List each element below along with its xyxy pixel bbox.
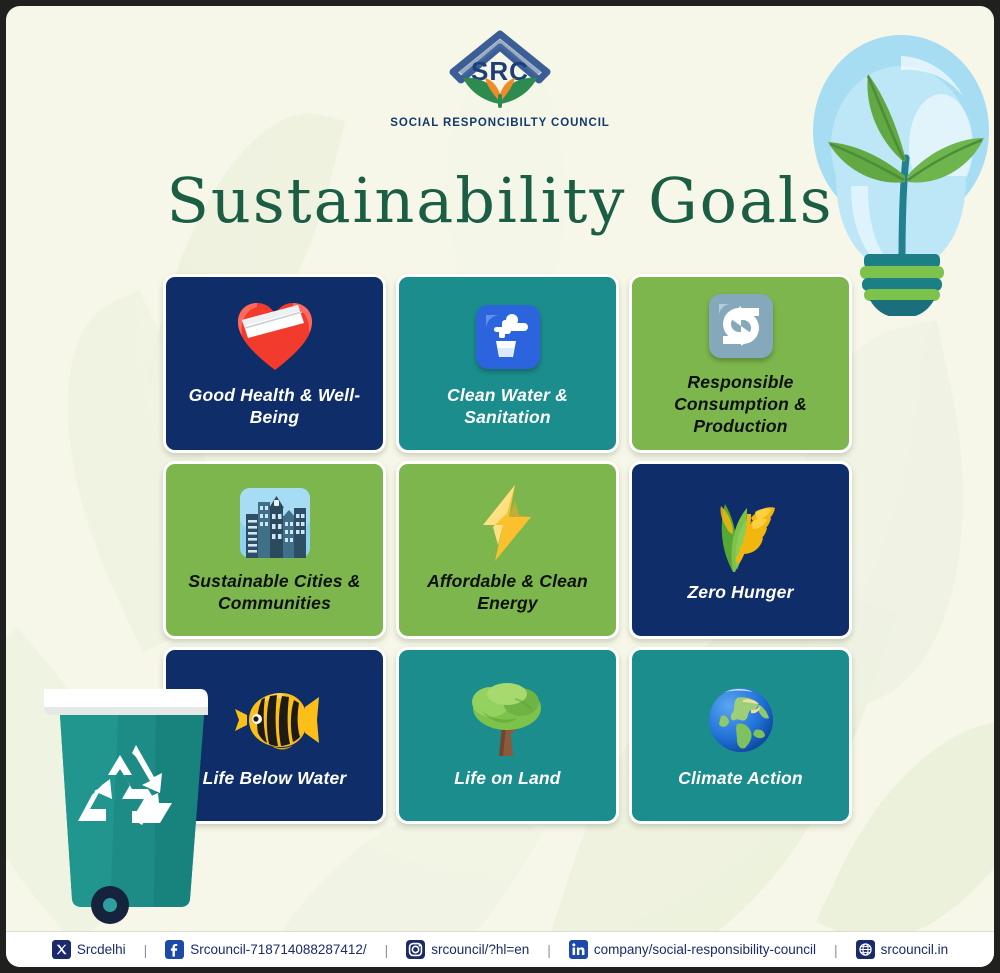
lightning-bolt-icon — [473, 483, 543, 563]
goal-card-climate-action[interactable]: Climate Action — [629, 647, 852, 824]
goal-card-clean-water[interactable]: Clean Water & Sanitation — [396, 274, 619, 453]
cityscape-icon — [240, 488, 310, 558]
goal-icon-wrap — [703, 492, 779, 576]
facebook-icon — [165, 940, 184, 959]
footer-separator: | — [381, 942, 393, 958]
linkedin-icon — [569, 940, 588, 959]
goal-card-label: Good Health & Well-Being — [176, 385, 373, 429]
goal-card-sustainable-cities[interactable]: Sustainable Cities & Communities — [163, 461, 386, 639]
goal-card-zero-hunger[interactable]: Zero Hunger — [629, 461, 852, 639]
goal-card-clean-energy[interactable]: Affordable & Clean Energy — [396, 461, 619, 639]
poster-canvas: SRC SOCIAL RESPONCIBILTY COUNCIL Sustain… — [6, 6, 994, 967]
footer-separator: | — [140, 942, 152, 958]
footer-handle: srcouncil.in — [881, 942, 949, 957]
footer-separator: | — [543, 942, 555, 958]
goal-card-label: Life on Land — [454, 768, 560, 790]
footer-item-instagram[interactable]: srcouncil/?hl=en — [406, 940, 529, 959]
faucet-glass-glyph — [482, 311, 534, 363]
social-footer: Srcdelhi | Srcouncil-718714088287412/ | — [6, 931, 994, 967]
footer-item-facebook[interactable]: Srcouncil-718714088287412/ — [165, 940, 366, 959]
tropical-fish-icon — [231, 689, 319, 751]
goal-icon-wrap — [469, 678, 547, 762]
goal-card-label: Clean Water & Sanitation — [409, 385, 606, 429]
goal-icon-wrap — [476, 295, 540, 379]
footer-item-linkedin[interactable]: company/social-responsibility-council — [569, 940, 816, 959]
lightbulb-with-plant-icon — [806, 26, 994, 316]
instagram-icon — [406, 940, 425, 959]
goals-grid: Good Health & Well-Being — [163, 274, 853, 824]
goal-card-label: Sustainable Cities & Communities — [176, 571, 373, 615]
footer-handle: Srcouncil-718714088287412/ — [190, 942, 366, 957]
goal-icon-wrap — [707, 678, 775, 762]
sustainability-goals-poster: SRC SOCIAL RESPONCIBILTY COUNCIL Sustain… — [0, 0, 1000, 973]
tree-icon — [469, 682, 547, 758]
src-diamond-logo-icon: SRC — [435, 28, 565, 113]
footer-separator: | — [830, 942, 842, 958]
goal-icon-wrap — [236, 295, 314, 379]
footer-handle: company/social-responsibility-council — [594, 942, 816, 957]
cycle-arrows-icon — [709, 294, 773, 358]
faucet-glass-icon — [476, 305, 540, 369]
goal-card-life-on-land[interactable]: Life on Land — [396, 647, 619, 824]
footer-item-website[interactable]: srcouncil.in — [856, 940, 949, 959]
footer-handle: srcouncil/?hl=en — [431, 942, 529, 957]
bandaged-heart-icon — [236, 300, 314, 374]
goal-card-label: Climate Action — [678, 768, 803, 790]
cycle-arrows-glyph — [715, 300, 767, 352]
footer-item-x-twitter[interactable]: Srcdelhi — [52, 940, 126, 959]
globe-icon — [707, 686, 775, 754]
goal-icon-wrap — [240, 481, 310, 565]
website-globe-icon — [856, 940, 875, 959]
goal-icon-wrap — [231, 678, 319, 762]
goal-card-label: Zero Hunger — [687, 582, 793, 604]
goal-card-label: Responsible Consumption & Production — [642, 372, 839, 438]
wheat-stalk-icon — [703, 494, 779, 574]
goal-card-responsible-consumption[interactable]: Responsible Consumption & Production — [629, 274, 852, 453]
goal-card-label: Affordable & Clean Energy — [409, 571, 606, 615]
goal-card-good-health[interactable]: Good Health & Well-Being — [163, 274, 386, 453]
x-twitter-icon — [52, 940, 71, 959]
goal-icon-wrap — [709, 285, 773, 366]
recycling-bin-icon — [36, 681, 226, 926]
goal-icon-wrap — [473, 481, 543, 565]
footer-handle: Srcdelhi — [77, 942, 126, 957]
logo-caption: SOCIAL RESPONCIBILTY COUNCIL — [390, 117, 609, 129]
